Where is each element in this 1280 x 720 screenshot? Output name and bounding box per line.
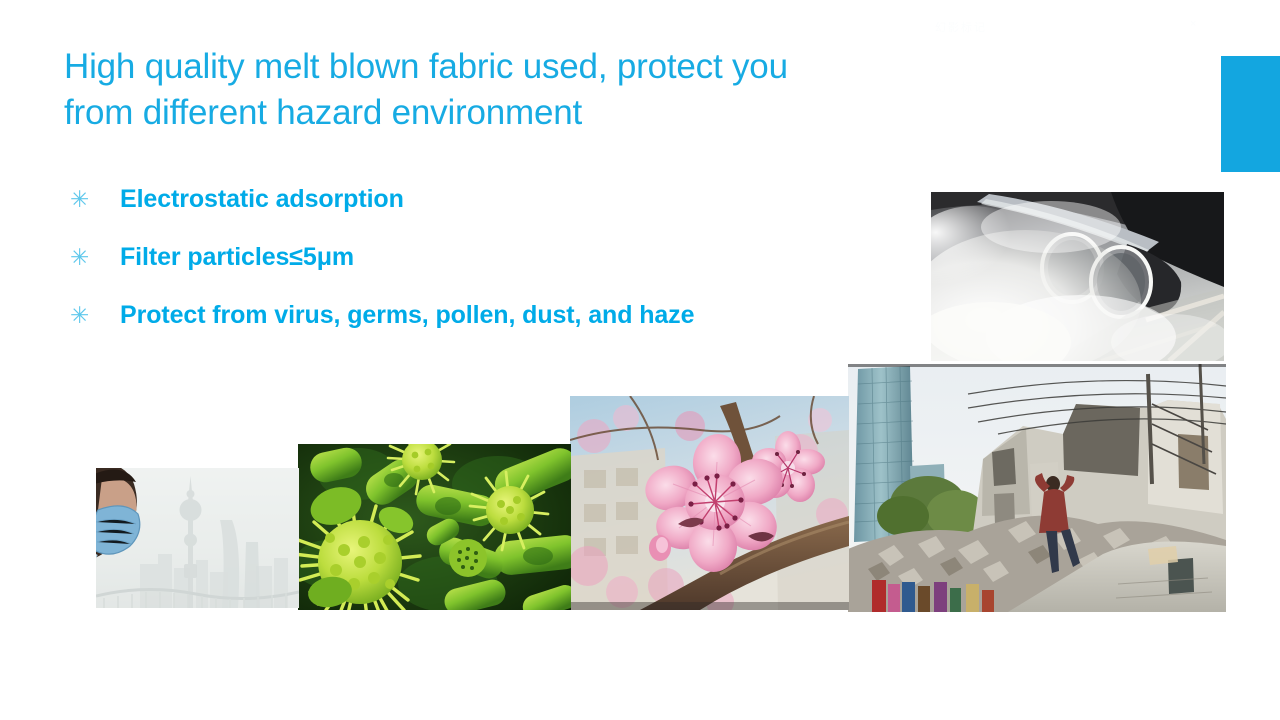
bullet-label-protect: Protect from virus, germs, pollen, dust,…	[120, 301, 694, 330]
car-exhaust-smoke-photo	[931, 192, 1224, 361]
page-title-line-1: High quality melt blown fabric used, pro…	[64, 44, 994, 90]
ghost-mark-right: ×	[1190, 18, 1198, 30]
cherry-blossom-photo: 摄图网 www.699pic.com ID:75946607	[570, 396, 849, 610]
asterisk-bullet-icon: ✳	[64, 188, 120, 211]
list-item: ✳ Protect from virus, germs, pollen, dus…	[64, 301, 924, 359]
demolition-rubble-photo: ⓘ@图虫摄影网	[848, 364, 1226, 612]
list-item: ✳ Electrostatic adsorption	[64, 185, 924, 243]
asterisk-bullet-icon: ✳	[64, 246, 120, 269]
slide-canvas: 幻影标记 × High quality melt blown fabric us…	[0, 0, 1280, 720]
page-title-line-2: from different hazard environment	[64, 90, 994, 136]
bullet-label-filter: Filter particles≤5μm	[120, 243, 354, 272]
list-item: ✳ Filter particles≤5μm	[64, 243, 924, 301]
bullet-label-electrostatic: Electrostatic adsorption	[120, 185, 404, 214]
ghost-mark-left: 幻影标记	[935, 19, 987, 35]
smog-mask-photo	[96, 468, 299, 608]
bacteria-germs-photo	[298, 444, 571, 610]
feature-bullet-list: ✳ Electrostatic adsorption ✳ Filter part…	[64, 185, 924, 359]
page-title: High quality melt blown fabric used, pro…	[64, 44, 994, 136]
accent-bar	[1221, 56, 1280, 172]
asterisk-bullet-icon: ✳	[64, 304, 120, 327]
